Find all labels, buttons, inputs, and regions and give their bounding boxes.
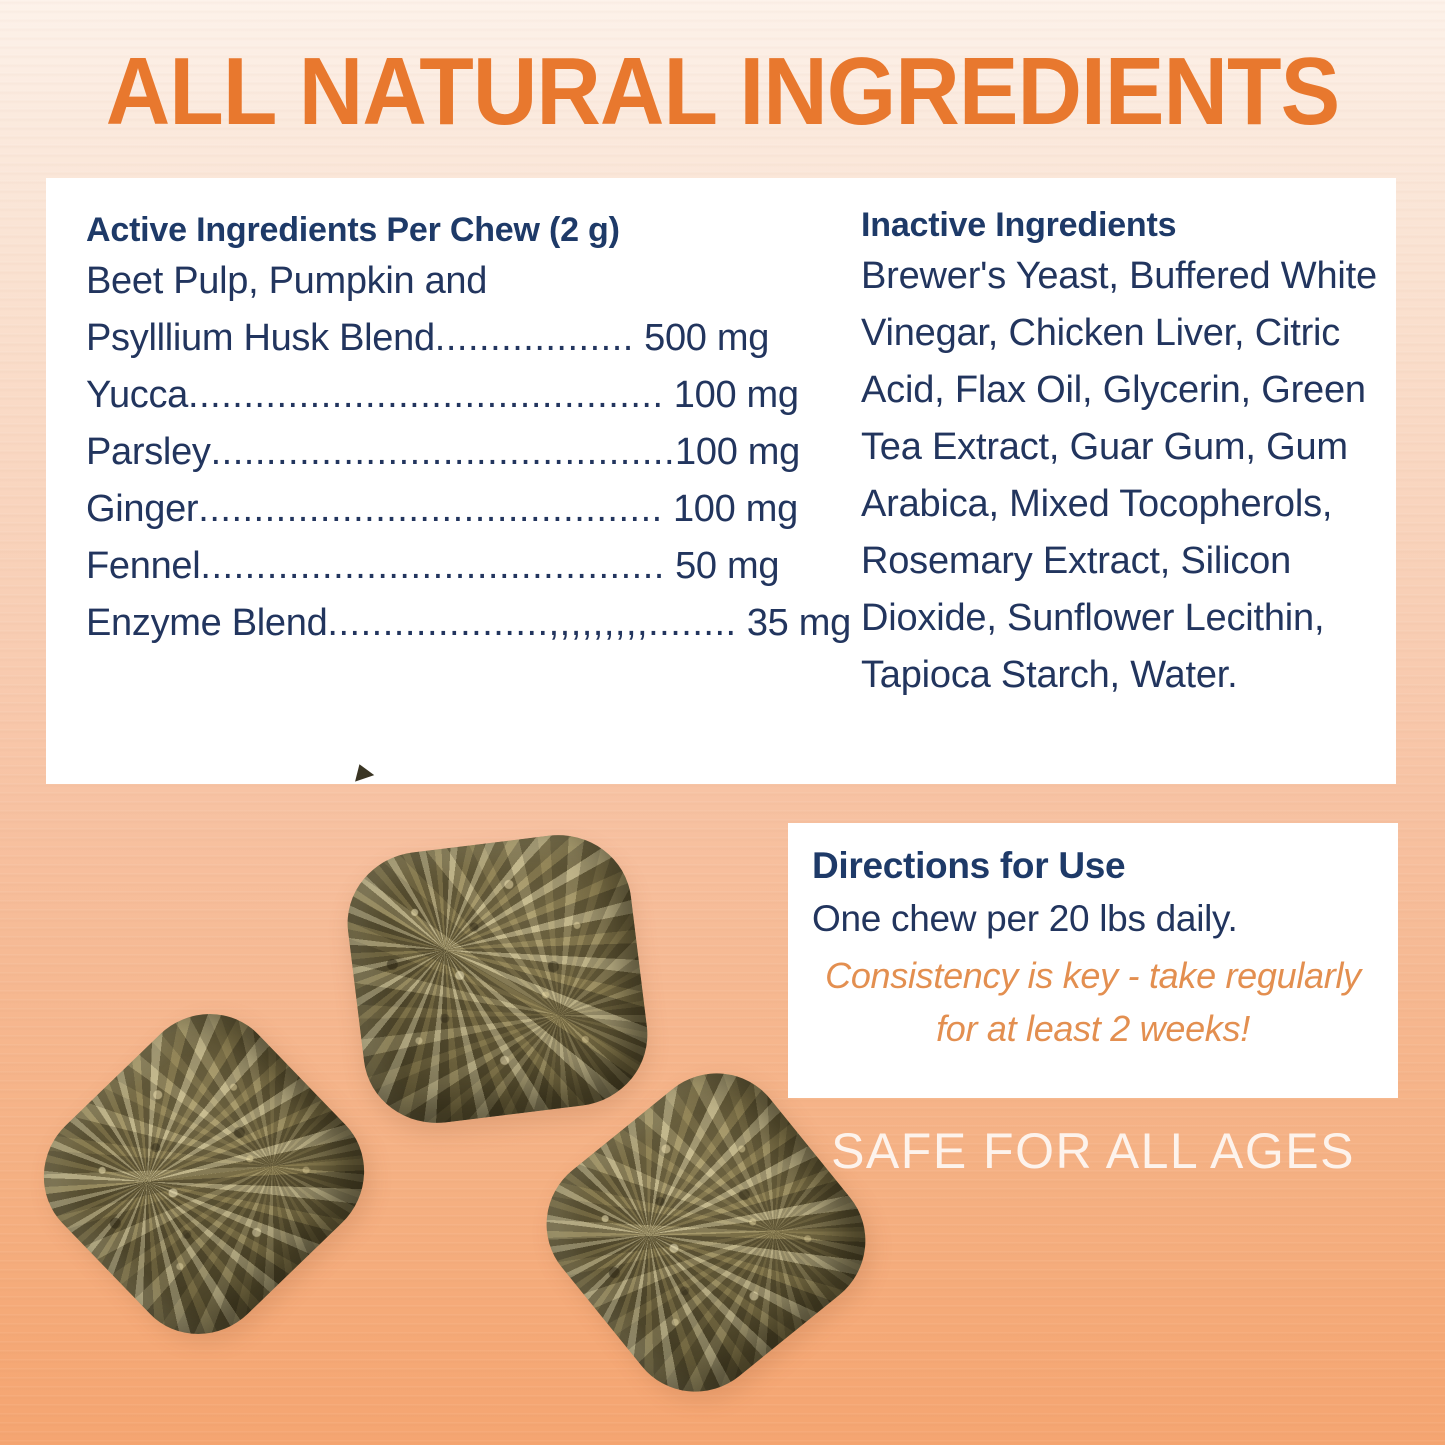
directions-note: Consistency is key - take regularly for … xyxy=(812,947,1374,1055)
dot-leader: ........................................… xyxy=(198,488,662,530)
inactive-ingredients-heading: Inactive Ingredients xyxy=(861,206,1421,245)
ingredient-amount: 35 mg xyxy=(747,602,851,644)
ingredients-panel: Active Ingredients Per Chew (2 g) Beet P… xyxy=(46,178,1396,784)
chew-photo-left xyxy=(15,985,393,1362)
directions-heading: Directions for Use xyxy=(812,845,1374,887)
dot-leader: ........................................… xyxy=(188,374,663,416)
ingredient-name: Enzyme Blend xyxy=(86,602,327,644)
inactive-ingredients-body: Brewer's Yeast, Buffered White Vinegar, … xyxy=(861,248,1421,704)
active-ingredients-heading: Active Ingredients Per Chew (2 g) xyxy=(86,211,846,250)
dot-leader: .................. xyxy=(435,317,634,359)
active-intro-line: Beet Pulp, Pumpkin and xyxy=(86,253,846,310)
ingredient-amount: 500 mg xyxy=(644,317,769,359)
safe-for-all-ages-tagline: SAFE FOR ALL AGES xyxy=(788,1122,1398,1180)
ingredient-amount: 100 mg xyxy=(673,488,798,530)
ingredient-row: Enzyme Blend....................,,,,,,,,… xyxy=(86,595,846,652)
ingredient-row: Parsley.................................… xyxy=(86,424,846,481)
chew-photo-top xyxy=(339,827,655,1132)
inactive-ingredients-column: Inactive Ingredients Brewer's Yeast, Buf… xyxy=(861,206,1421,704)
ingredient-amount: 100 mg xyxy=(674,374,799,416)
active-ingredients-column: Active Ingredients Per Chew (2 g) Beet P… xyxy=(86,211,846,652)
product-infographic: ALL NATURAL INGREDIENTS Active Ingredien… xyxy=(0,0,1445,1445)
directions-box: Directions for Use One chew per 20 lbs d… xyxy=(788,823,1398,1098)
ingredient-row: Ginger..................................… xyxy=(86,481,846,538)
dot-leader: ........................................… xyxy=(211,431,675,473)
ingredient-amount: 50 mg xyxy=(675,545,779,587)
ingredient-name: Fennel xyxy=(86,545,200,587)
dot-leader: ........................................… xyxy=(200,545,664,587)
ingredient-amount: 100 mg xyxy=(675,431,800,473)
ingredient-name: Ginger xyxy=(86,488,198,530)
ingredient-name: Psylllium Husk Blend xyxy=(86,317,435,359)
ingredient-row: Psylllium Husk Blend.................. 5… xyxy=(86,310,846,367)
page-title: ALL NATURAL INGREDIENTS xyxy=(51,44,1395,140)
directions-dose: One chew per 20 lbs daily. xyxy=(812,891,1374,947)
ingredient-name: Yucca xyxy=(86,374,188,416)
ingredient-row: Yucca...................................… xyxy=(86,367,846,424)
ingredient-row: Fennel..................................… xyxy=(86,538,846,595)
dot-leader: ....................,,,,,,,,,........ xyxy=(327,602,736,644)
ingredient-name: Parsley xyxy=(86,431,211,473)
